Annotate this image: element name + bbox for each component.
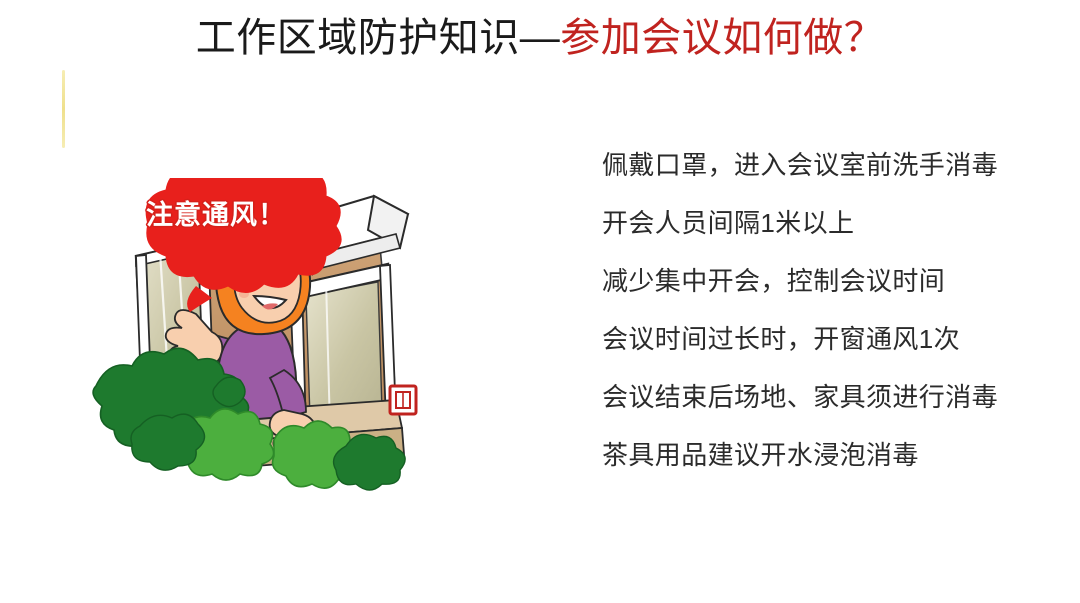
guidelines-list: 佩戴口罩，进入会议室前洗手消毒 开会人员间隔1米以上 减少集中开会，控制会议时间… xyxy=(602,150,1022,470)
list-item: 开会人员间隔1米以上 xyxy=(602,208,1022,238)
seal-stamp xyxy=(390,386,416,414)
page-title: 工作区域防护知识—参加会议如何做？ xyxy=(0,14,1080,62)
list-item: 茶具用品建议开水浸泡消毒 xyxy=(602,440,1022,470)
list-item: 佩戴口罩，进入会议室前洗手消毒 xyxy=(602,150,1022,180)
page-title-accent: 参加会议如何做？ xyxy=(560,16,884,60)
list-item: 减少集中开会，控制会议时间 xyxy=(602,266,1022,296)
ventilation-illustration xyxy=(78,178,478,508)
accent-bar xyxy=(62,70,65,148)
page-title-main: 工作区域防护知识 xyxy=(196,16,520,60)
list-item: 会议时间过长时，开窗通风1次 xyxy=(602,324,1022,354)
slide-canvas: 工作区域防护知识—参加会议如何做？ xyxy=(0,0,1080,603)
page-title-dash: — xyxy=(520,16,561,60)
list-item: 会议结束后场地、家具须进行消毒 xyxy=(602,382,1022,412)
